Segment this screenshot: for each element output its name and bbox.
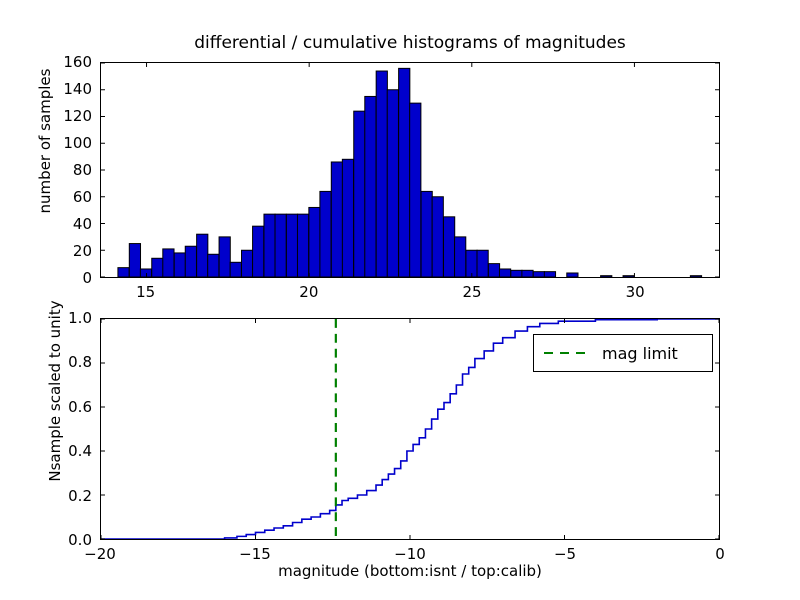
- histogram-bar: [129, 244, 140, 277]
- histogram-bar: [477, 250, 488, 277]
- histogram-bar: [342, 159, 353, 277]
- histogram-bar: [286, 214, 297, 277]
- bottom-y-tick-label: 0.8: [40, 353, 92, 371]
- top-x-tick-label: 30: [626, 283, 645, 301]
- top-x-tick-label: 20: [299, 283, 318, 301]
- histogram-bar: [623, 276, 634, 277]
- histogram-bar: [242, 250, 253, 277]
- bottom-y-tick-label: 0.4: [40, 442, 92, 460]
- histogram-bar: [118, 268, 129, 277]
- top-y-tick-label: 60: [40, 188, 92, 206]
- histogram-bar: [264, 214, 275, 277]
- histogram-bar: [567, 273, 578, 277]
- legend-label-mag-limit: mag limit: [602, 344, 678, 363]
- top-y-tick-label: 100: [40, 134, 92, 152]
- bottom-x-tick-label: 0: [715, 545, 725, 563]
- histogram-bar: [253, 226, 264, 277]
- histogram-bar: [533, 272, 544, 277]
- top-y-tick-label: 160: [40, 53, 92, 71]
- histogram-bar: [387, 90, 398, 277]
- histogram-bar: [219, 237, 230, 277]
- histogram-bar: [455, 237, 466, 277]
- histogram-bar: [354, 111, 365, 277]
- histogram-bar: [522, 270, 533, 277]
- histogram-bar: [488, 264, 499, 277]
- histogram-bar: [601, 276, 612, 277]
- bottom-y-tick-label: 0.6: [40, 398, 92, 416]
- top-x-tick-label: 15: [136, 283, 155, 301]
- histogram-bar: [275, 214, 286, 277]
- bottom-y-tick-label: 1.0: [40, 309, 92, 327]
- differential-histogram-plot-area: [101, 63, 719, 277]
- histogram-bar: [331, 162, 342, 277]
- histogram-bar: [432, 197, 443, 277]
- histogram-bar: [197, 234, 208, 277]
- histogram-bar: [399, 68, 410, 277]
- histogram-bar: [421, 191, 432, 277]
- histogram-bar: [365, 96, 376, 277]
- bottom-x-tick-label: −5: [554, 545, 576, 563]
- bottom-y-tick-label: 0.2: [40, 487, 92, 505]
- histogram-bar: [410, 103, 421, 277]
- figure-title: differential / cumulative histograms of …: [100, 33, 720, 53]
- histogram-bar: [297, 214, 308, 277]
- top-y-tick-label: 20: [40, 242, 92, 260]
- histogram-bar: [309, 207, 320, 277]
- top-y-tick-label: 80: [40, 161, 92, 179]
- top-y-tick-label: 140: [40, 80, 92, 98]
- histogram-bar: [499, 269, 510, 277]
- bottom-x-tick-label: −15: [239, 545, 271, 563]
- legend-swatch-mag-limit: [544, 352, 586, 354]
- histogram-bar: [544, 272, 555, 277]
- histogram-bar: [376, 71, 387, 277]
- top-x-tick-label: 25: [462, 283, 481, 301]
- histogram-bar: [466, 250, 477, 277]
- histogram-bar: [152, 258, 163, 277]
- figure-canvas: differential / cumulative histograms of …: [0, 0, 800, 600]
- histogram-bar: [690, 276, 701, 277]
- bottom-y-tick-label: 0.0: [40, 531, 92, 549]
- differential-histogram-axes: [100, 62, 720, 278]
- histogram-bar: [208, 254, 219, 277]
- legend: mag limit: [533, 334, 713, 372]
- histogram-bar: [511, 270, 522, 277]
- histogram-bar: [320, 191, 331, 277]
- top-y-tick-label: 120: [40, 107, 92, 125]
- histogram-bar: [185, 246, 196, 277]
- x-axis-label: magnitude (bottom:isnt / top:calib): [100, 562, 720, 580]
- bottom-x-tick-label: −10: [394, 545, 426, 563]
- histogram-bar: [140, 269, 151, 277]
- top-y-tick-label: 40: [40, 215, 92, 233]
- histogram-bar: [163, 249, 174, 277]
- histogram-bar: [230, 262, 241, 277]
- histogram-bar: [444, 217, 455, 277]
- histogram-bar: [174, 253, 185, 277]
- cumulative-histogram-axes: mag limit: [100, 318, 720, 540]
